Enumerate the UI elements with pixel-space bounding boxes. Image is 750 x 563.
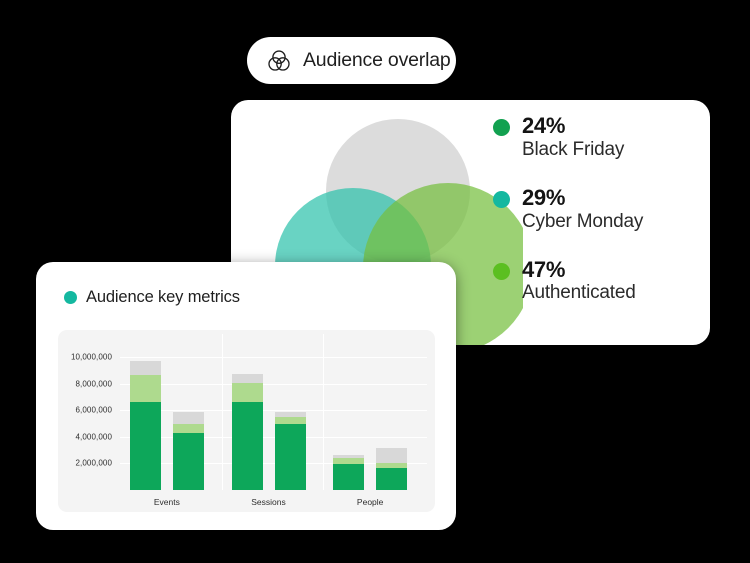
category-separator bbox=[323, 334, 324, 490]
overlap-legend: 24% Black Friday 29% Cyber Monday 47% Au… bbox=[493, 114, 708, 304]
bar-segment bbox=[173, 412, 204, 423]
bar-segment bbox=[130, 402, 161, 490]
bar-segment bbox=[333, 464, 364, 490]
legend-dot-authenticated bbox=[493, 263, 510, 280]
bar-segment bbox=[232, 383, 263, 402]
bar[interactable] bbox=[376, 448, 407, 490]
audience-key-metrics-card: Audience key metrics 2,000,0004,000,0006… bbox=[36, 262, 456, 530]
legend-label: Black Friday bbox=[522, 139, 624, 160]
legend-dot-cyber-monday bbox=[493, 191, 510, 208]
legend-item: 47% Authenticated bbox=[493, 258, 708, 304]
legend-item: 24% Black Friday bbox=[493, 114, 708, 160]
bar-segment bbox=[376, 468, 407, 490]
metrics-card-title: Audience key metrics bbox=[86, 288, 240, 307]
bar-segment bbox=[376, 448, 407, 463]
bar-chart: 2,000,0004,000,0006,000,0008,000,00010,0… bbox=[58, 330, 435, 512]
y-axis-tick-label: 10,000,000 bbox=[58, 353, 112, 362]
bar[interactable] bbox=[333, 455, 364, 490]
legend-label: Authenticated bbox=[522, 282, 636, 303]
bar[interactable] bbox=[232, 374, 263, 490]
y-axis-tick-label: 8,000,000 bbox=[58, 379, 112, 388]
gridline bbox=[120, 437, 427, 438]
metrics-header: Audience key metrics bbox=[36, 262, 456, 307]
category-separator bbox=[222, 334, 223, 490]
x-axis-category-label: Sessions bbox=[251, 497, 286, 507]
y-axis-tick-label: 6,000,000 bbox=[58, 406, 112, 415]
bar-segment bbox=[173, 424, 204, 433]
bar-segment bbox=[130, 361, 161, 374]
legend-percent: 29% bbox=[522, 186, 643, 211]
screenshot-root: Audience overlap 24% Black Friday 29 bbox=[0, 0, 750, 563]
legend-percent: 47% bbox=[522, 258, 636, 283]
gridline bbox=[120, 357, 427, 358]
bar[interactable] bbox=[173, 412, 204, 490]
audience-overlap-pill-label: Audience overlap bbox=[303, 49, 451, 72]
bar-segment bbox=[275, 417, 306, 424]
x-axis-category-label: Events bbox=[154, 497, 180, 507]
bar-segment bbox=[232, 402, 263, 490]
x-axis-category-label: People bbox=[357, 497, 383, 507]
y-axis-tick-label: 2,000,000 bbox=[58, 459, 112, 468]
metrics-status-dot bbox=[64, 291, 77, 304]
bar[interactable] bbox=[130, 361, 161, 490]
bar-segment bbox=[232, 374, 263, 383]
legend-dot-black-friday bbox=[493, 119, 510, 136]
bar-segment bbox=[275, 424, 306, 490]
bar-segment bbox=[173, 433, 204, 490]
bar-segment bbox=[130, 375, 161, 402]
legend-label: Cyber Monday bbox=[522, 211, 643, 232]
gridline bbox=[120, 384, 427, 385]
y-axis-tick-label: 4,000,000 bbox=[58, 432, 112, 441]
legend-item: 29% Cyber Monday bbox=[493, 186, 708, 232]
audience-overlap-pill[interactable]: Audience overlap bbox=[247, 37, 456, 84]
venn-three-circles-icon bbox=[266, 48, 292, 74]
bar[interactable] bbox=[275, 412, 306, 490]
gridline bbox=[120, 410, 427, 411]
legend-percent: 24% bbox=[522, 114, 624, 139]
